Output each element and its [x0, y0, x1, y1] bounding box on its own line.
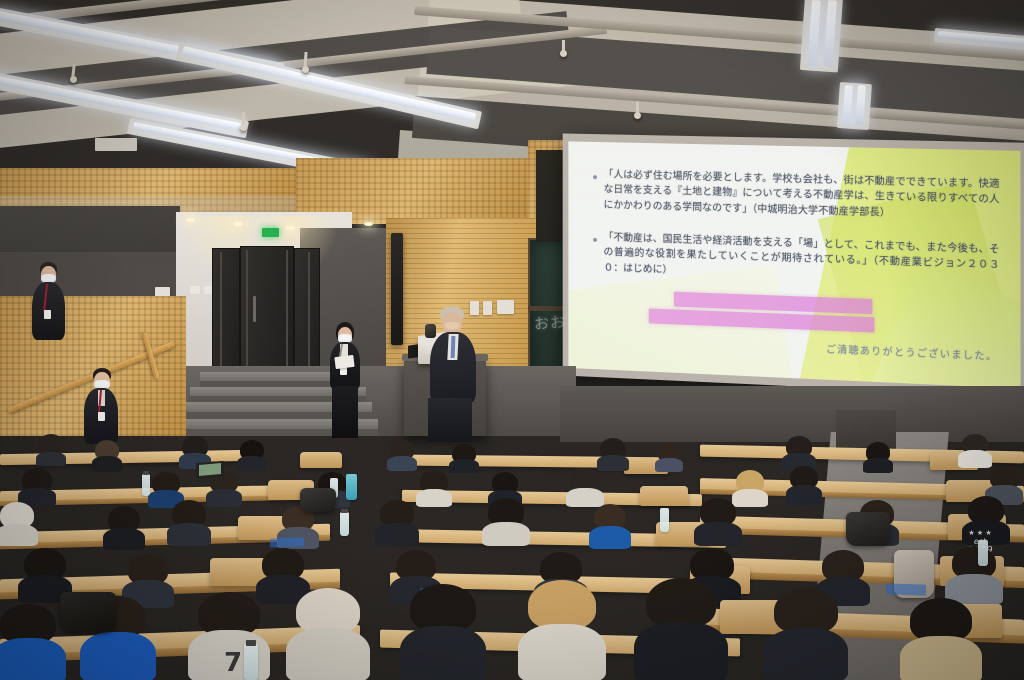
audience-member	[108, 506, 140, 546]
audience-member-front	[410, 584, 476, 680]
slide-bullet-item: 「不動産は、国民生活や経済活動を支える「場」として、これまでも、また今後も、その…	[593, 230, 1000, 289]
audience-member	[700, 498, 736, 544]
water-bottle-front[interactable]	[244, 644, 258, 680]
audience-member	[420, 470, 448, 504]
audience-member	[594, 504, 626, 546]
audience-member	[24, 548, 66, 600]
audience-member	[736, 470, 764, 504]
audience-member	[790, 466, 818, 502]
audience-member	[488, 498, 524, 544]
lecture-hall-door-right[interactable]	[294, 248, 320, 374]
sprinkler-head	[302, 66, 309, 73]
sprinkler-head	[70, 76, 77, 83]
audience-member-front	[646, 578, 716, 680]
seat-back	[300, 452, 342, 468]
water-bottle-teal[interactable]	[346, 474, 357, 500]
slide-bullet-text: 「不動産は、国民生活や経済活動を支える「場」として、これまでも、また今後も、その…	[604, 230, 1000, 289]
audience-member	[658, 444, 680, 470]
handout-sheet[interactable]	[270, 537, 304, 547]
moderator-standing	[328, 322, 362, 438]
staff-upper-left	[32, 262, 66, 340]
sprinkler-head	[240, 124, 247, 131]
wall-dark-behind-screen-left	[536, 150, 564, 242]
wall-notice-plate	[190, 286, 200, 294]
hoodie-number-graphic: 7	[224, 648, 242, 678]
water-bottle[interactable]	[978, 540, 988, 566]
emergency-exit-sign	[262, 228, 279, 237]
audience-member	[172, 500, 206, 544]
audience-member	[390, 440, 414, 468]
presenter-face-mask	[444, 322, 460, 331]
projection-screen: 「人は必ず住む場所を必要とします。学校も会社も、街は不動産でできています。快適な…	[563, 133, 1024, 397]
wall-dark-left-lower	[0, 252, 200, 298]
audience-member	[38, 434, 64, 462]
audience-member	[600, 438, 626, 468]
audience-member-front	[0, 604, 56, 680]
ceiling-downlight	[186, 218, 195, 222]
audience-member	[95, 440, 119, 468]
lecture-hall-door-left[interactable]	[212, 248, 240, 376]
staff-id-badge	[44, 310, 51, 319]
water-bottle[interactable]	[142, 474, 150, 496]
ceiling-downlight	[234, 222, 243, 226]
audience-member	[240, 440, 264, 468]
sprinkler-head	[560, 50, 567, 57]
audience-member	[866, 442, 890, 470]
water-bottle[interactable]	[660, 508, 669, 532]
staff-lower-left	[84, 368, 120, 444]
door-handle[interactable]	[253, 296, 256, 322]
audience-member-front	[910, 598, 972, 680]
staff-id-badge	[98, 412, 105, 421]
presenter-at-podium	[428, 306, 480, 436]
wall-outlet	[497, 300, 514, 314]
sprinkler-head	[634, 112, 641, 119]
ceiling-vent-grille	[95, 138, 137, 151]
audience-member	[962, 434, 988, 466]
audience-member-front	[774, 588, 838, 680]
chalk-writing: おお	[533, 311, 566, 334]
projected-slide: 「人は必ず住む場所を必要とします。学校も会社も、街は不動産でできています。快適な…	[568, 141, 1020, 388]
bullet-dot-icon	[593, 238, 597, 242]
backpack-on-aisle-floor[interactable]	[846, 512, 890, 546]
slide-bullet-item: 「人は必ず住む場所を必要とします。学校も会社も、街は不動産でできています。快適な…	[593, 167, 1000, 224]
moderator-trousers	[332, 386, 358, 438]
handout-sheet[interactable]	[886, 583, 926, 595]
wall-outlet	[483, 301, 492, 315]
ceiling-downlight	[364, 222, 373, 226]
audience-member	[380, 500, 414, 544]
audience-member-front	[528, 580, 596, 680]
bullet-dot-icon	[593, 175, 597, 179]
audience-member	[952, 546, 996, 604]
audience-member	[570, 468, 600, 504]
presenter-necktie	[451, 336, 456, 358]
speaker-column	[391, 233, 403, 345]
audience-member	[452, 444, 476, 470]
light-fixture-housing	[800, 0, 843, 72]
backpack-on-desk[interactable]	[300, 488, 336, 512]
audience-member	[786, 436, 812, 466]
slide-bullet-text: 「人は必ず住む場所を必要とします。学校も会社も、街は不動産でできています。快適な…	[604, 168, 1000, 224]
audience-member-front	[296, 588, 360, 680]
lecture-hall-photo: おお いり 「人は必ず住む場所を必要とします。学校も会社も、街は不動産でできてい…	[0, 0, 1024, 680]
stage-floor-right	[560, 386, 1024, 442]
audience-member	[22, 468, 52, 502]
presenter-trousers	[428, 398, 472, 442]
ceiling-downlight	[286, 226, 295, 230]
jacket-on-chair	[60, 592, 116, 632]
seat-back	[640, 486, 688, 506]
audience-member	[0, 502, 34, 542]
water-bottle[interactable]	[340, 512, 349, 536]
moderator-papers	[334, 355, 354, 369]
